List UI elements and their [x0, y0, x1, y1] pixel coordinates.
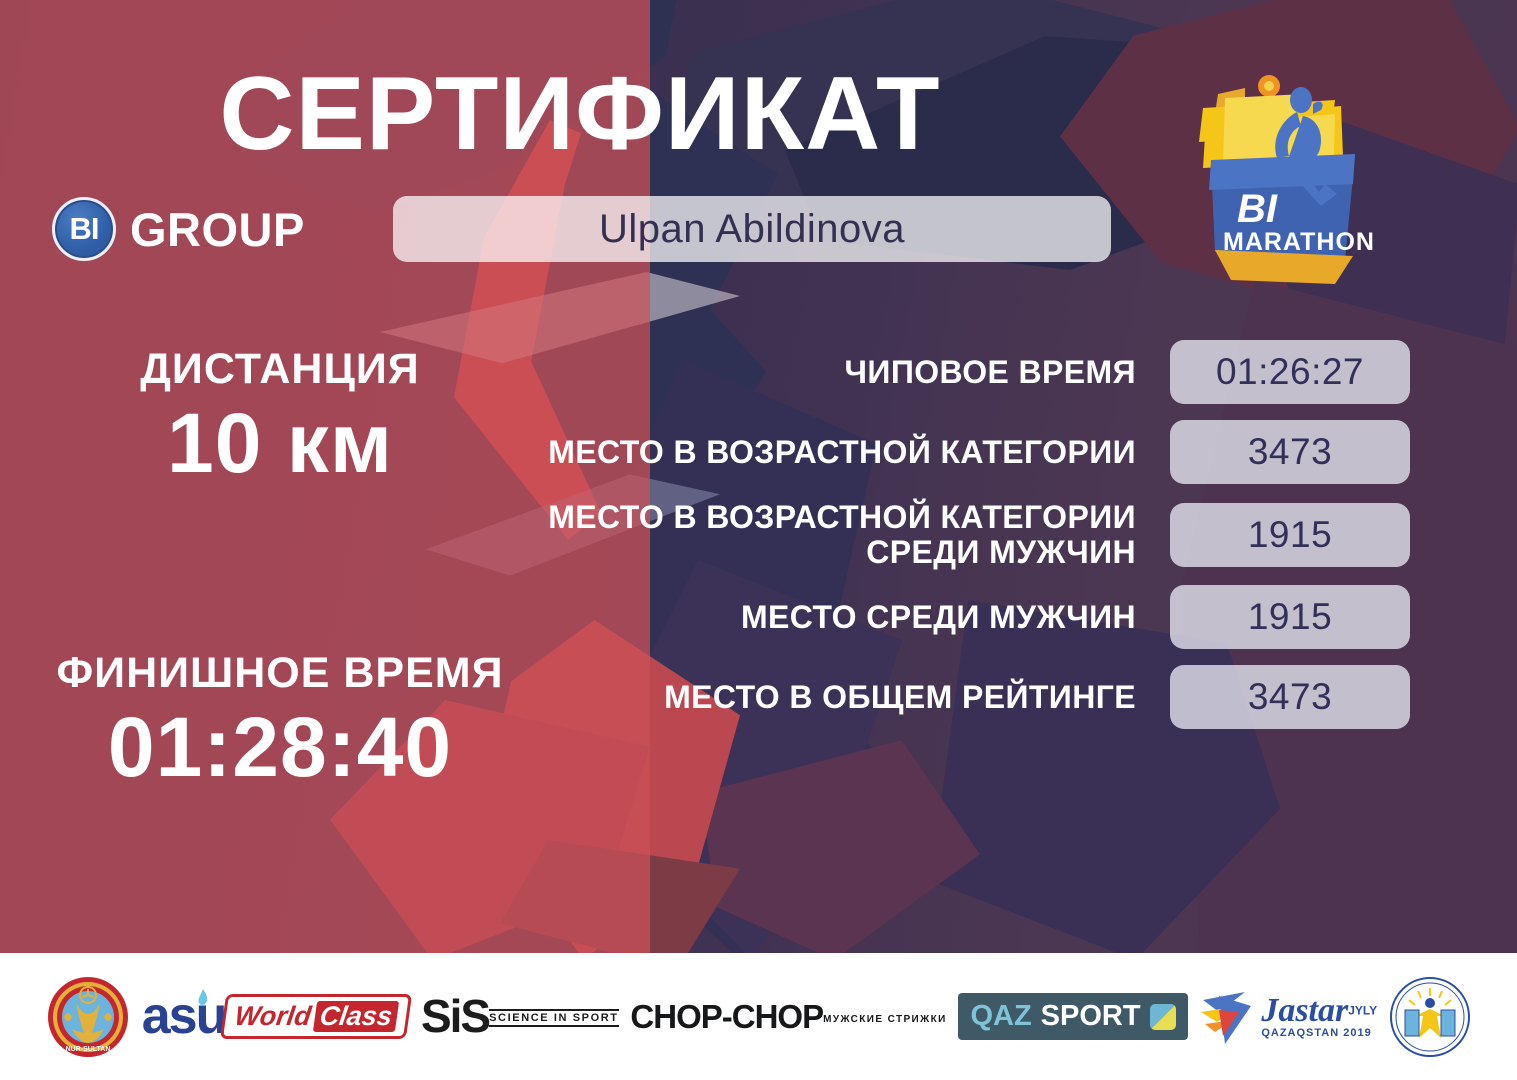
- participant-name: Ulpan Abildinova: [599, 207, 905, 252]
- certificate-canvas: СЕРТИФИКАТ Ulpan Abildinova BI GROUP: [0, 0, 1517, 1080]
- results-list: ЧИПОВОЕ ВРЕМЯ 01:26:27 МЕСТО В ВОЗРАСТНО…: [470, 340, 1410, 745]
- result-value: 3473: [1170, 420, 1410, 484]
- jyly-label: JYLY: [1348, 1004, 1377, 1018]
- bi-group-label: GROUP: [130, 202, 305, 257]
- sport-label: SPORT: [1041, 1000, 1141, 1033]
- distance-value: 10 км: [40, 396, 520, 490]
- qaz-label: QAZ: [970, 1000, 1031, 1033]
- bi-marathon-logo: BI MARATHON: [1185, 64, 1385, 302]
- qazaqstan-label: QAZAQSTAN 2019: [1261, 1028, 1377, 1039]
- jastar-bird-icon: [1199, 986, 1255, 1048]
- finish-time-value: 01:28:40: [40, 700, 520, 794]
- result-label: МЕСТО СРЕДИ МУЖЧИН: [470, 600, 1170, 635]
- asu-label: asu: [142, 992, 226, 1041]
- asu-logo: asu: [142, 992, 212, 1041]
- result-row: МЕСТО В ВОЗРАСТНОЙ КАТЕГОРИИ 3473: [470, 420, 1410, 484]
- nur-sultan-label: NUR-SULTAN: [66, 1046, 111, 1053]
- result-row: МЕСТО СРЕДИ МУЖЧИН 1915: [470, 585, 1410, 649]
- distance-block: ДИСТАНЦИЯ 10 км: [40, 346, 520, 491]
- result-value: 1915: [1170, 585, 1410, 649]
- result-label: МЕСТО В ВОЗРАСТНОЙ КАТЕГОРИИ: [470, 435, 1170, 470]
- result-row: ЧИПОВОЕ ВРЕМЯ 01:26:27: [470, 340, 1410, 404]
- result-row: МЕСТО В ОБЩЕМ РЕЙТИНГЕ 3473: [470, 665, 1410, 729]
- bi-mark-label: BI: [70, 211, 99, 247]
- ministry-seal-icon: [1389, 976, 1471, 1058]
- distance-label: ДИСТАНЦИЯ: [40, 346, 520, 392]
- qazsport-square-icon: [1150, 1004, 1176, 1030]
- result-label: МЕСТО В ОБЩЕМ РЕЙТИНГЕ: [470, 680, 1170, 715]
- marathon-bi-text: BI: [1237, 187, 1278, 231]
- asu-drop-icon: [195, 988, 211, 1010]
- result-label: МЕСТО В ВОЗРАСТНОЙ КАТЕГОРИИ СРЕДИ МУЖЧИ…: [470, 500, 1170, 569]
- marathon-word-text: MARATHON: [1223, 228, 1375, 256]
- finish-time-block: ФИНИШНОЕ ВРЕМЯ 01:28:40: [40, 650, 520, 795]
- sis-sub-label: SCIENCE IN SPORT: [489, 1009, 619, 1027]
- result-value: 3473: [1170, 665, 1410, 729]
- jastar-jyly-logo: JastarJYLY QAZAQSTAN 2019: [1199, 986, 1377, 1048]
- chop-mark-label: CHOP-CHOP: [630, 998, 823, 1036]
- world-class-logo: World Class: [223, 994, 409, 1039]
- sis-mark-label: SiS: [421, 996, 489, 1037]
- bi-circle-icon: BI: [52, 197, 116, 261]
- result-value: 01:26:27: [1170, 340, 1410, 404]
- qazsport-logo: QAZ SPORT: [958, 993, 1187, 1040]
- result-value: 1915: [1170, 503, 1410, 567]
- participant-name-field: Ulpan Abildinova: [393, 196, 1111, 262]
- result-row: МЕСТО В ВОЗРАСТНОЙ КАТЕГОРИИ СРЕДИ МУЖЧИ…: [470, 500, 1410, 569]
- bi-group-logo: BI GROUP: [52, 197, 305, 261]
- finish-time-label: ФИНИШНОЕ ВРЕМЯ: [40, 650, 520, 696]
- world-label: World: [233, 1001, 313, 1032]
- nur-sultan-emblem-icon: NUR-SULTAN: [46, 975, 130, 1059]
- marathon-logo-icon: BI MARATHON: [1185, 64, 1385, 302]
- sis-logo: SiS SCIENCE IN SPORT: [421, 996, 619, 1037]
- chop-sub-label: МУЖСКИЕ СТРИЖКИ: [823, 1014, 947, 1025]
- chop-chop-logo: CHOP-CHOP МУЖСКИЕ СТРИЖКИ: [630, 998, 946, 1036]
- result-label: ЧИПОВОЕ ВРЕМЯ: [470, 355, 1170, 390]
- jastar-label: Jastar: [1261, 992, 1348, 1029]
- class-label: Class: [313, 1001, 399, 1032]
- page-title: СЕРТИФИКАТ: [0, 62, 1160, 166]
- sponsor-footer: NUR-SULTAN asu World Class SiS SCIENCE I…: [0, 953, 1517, 1080]
